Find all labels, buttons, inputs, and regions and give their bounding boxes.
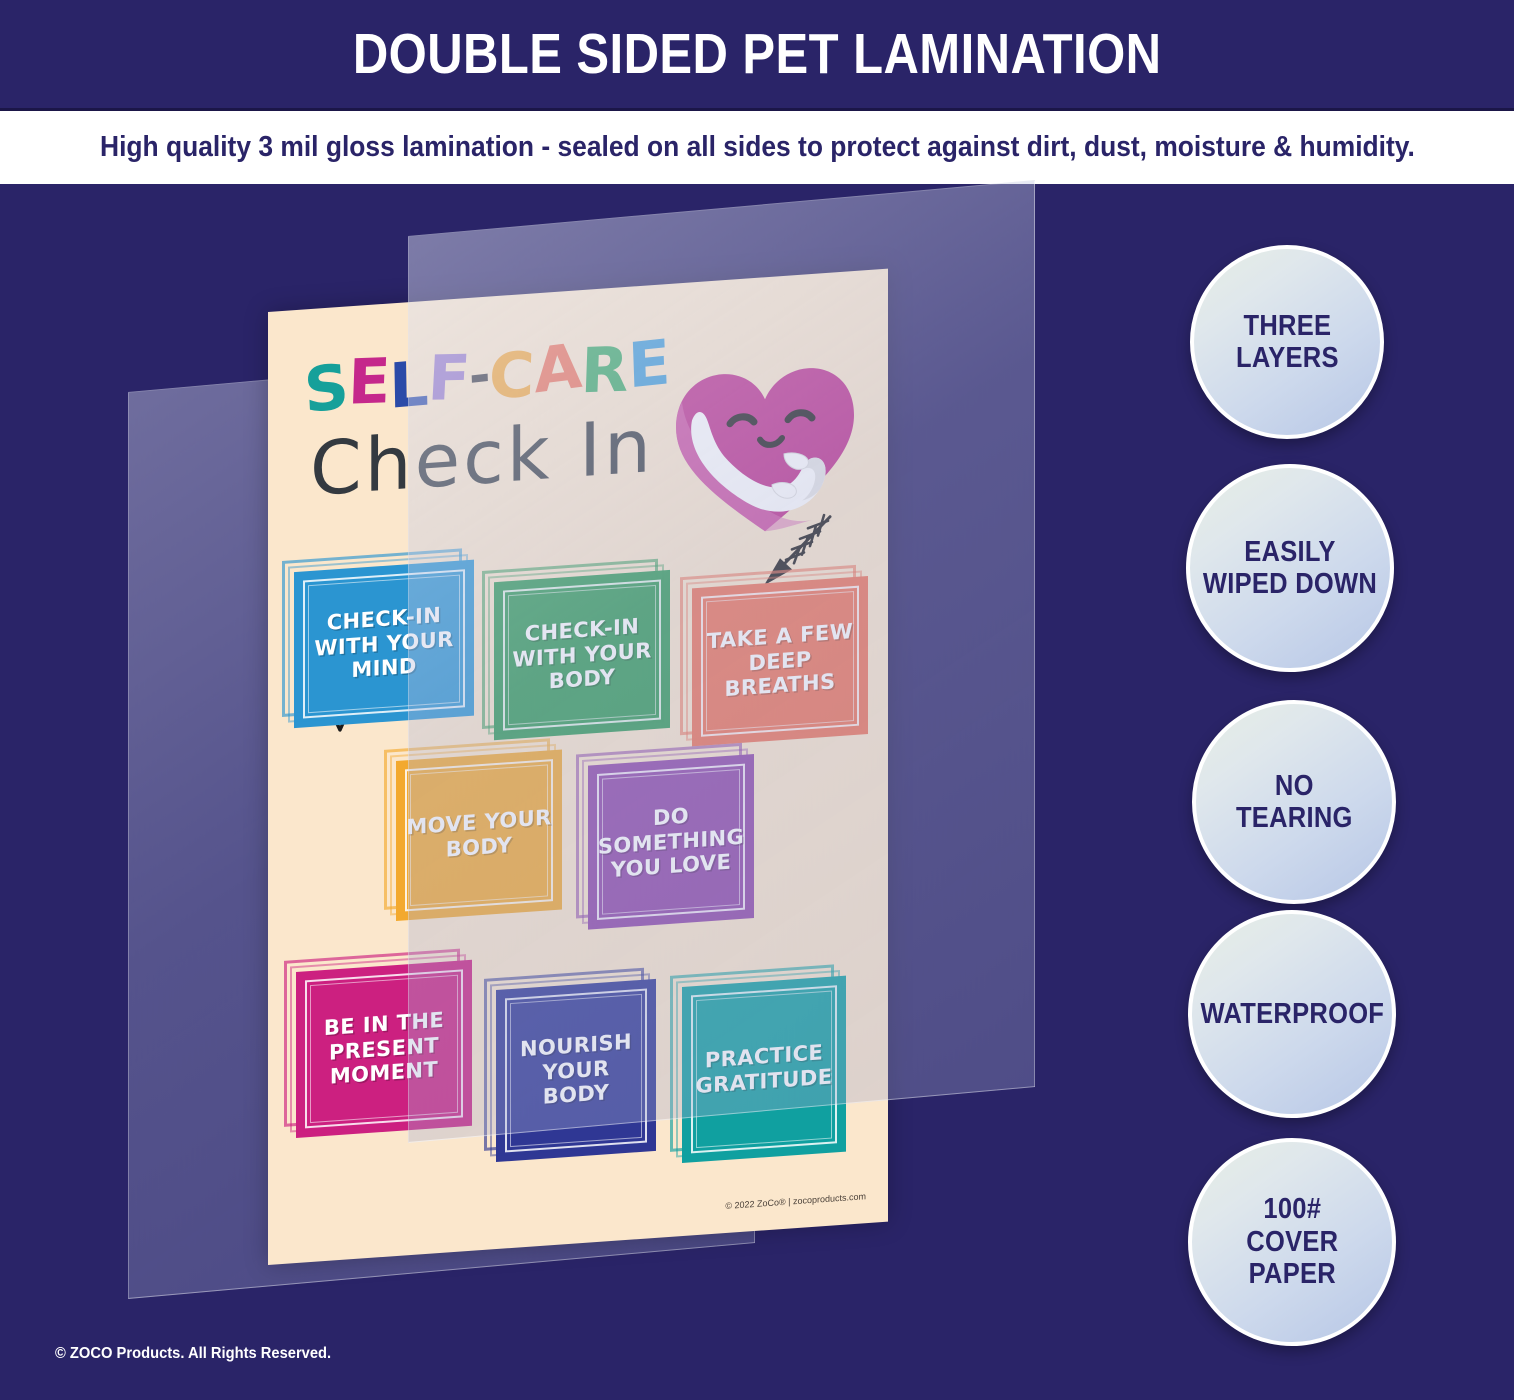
badge-label: THREE LAYERS <box>1236 310 1339 375</box>
badge-no-tearing: NO TEARING <box>1192 700 1396 904</box>
header-subtitle: High quality 3 mil gloss lamination - se… <box>100 131 1415 164</box>
footer-copyright: © ZOCO Products. All Rights Reserved. <box>55 1345 331 1363</box>
poster-copyright: © 2022 ZoCo® | zocoproducts.com <box>725 1191 866 1211</box>
page-title: DOUBLE SIDED PET LAMINATION <box>353 21 1162 87</box>
badge-100-cover-paper: 100# COVER PAPER <box>1188 1138 1396 1346</box>
badge-waterproof: WATERPROOF <box>1188 910 1396 1118</box>
badge-label: 100# COVER PAPER <box>1246 1193 1338 1290</box>
badge-label: WATERPROOF <box>1200 998 1384 1030</box>
badge-easily-wiped-down: EASILY WIPED DOWN <box>1186 464 1394 672</box>
title-letter: E <box>346 344 390 419</box>
product-image-stage: DOUBLE SIDED PET LAMINATION High quality… <box>0 0 1514 1400</box>
header-banner: DOUBLE SIDED PET LAMINATION <box>0 0 1514 111</box>
header-subtitle-bar: High quality 3 mil gloss lamination - se… <box>0 111 1514 184</box>
title-letter: S <box>302 349 349 427</box>
badge-label: EASILY WIPED DOWN <box>1203 536 1377 601</box>
badge-label: NO TEARING <box>1236 770 1353 835</box>
badge-three-layers: THREE LAYERS <box>1190 245 1384 439</box>
laminate-sheet-front <box>408 180 1035 1143</box>
